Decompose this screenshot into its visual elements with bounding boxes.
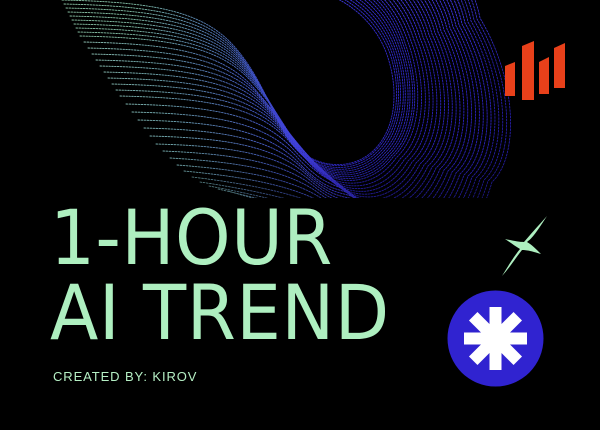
headline-line-2: AI TREND <box>50 275 441 350</box>
asterisk-glyph <box>464 307 527 370</box>
four-point-sparkle-icon <box>497 212 553 280</box>
credit-text: CREATED BY: KIROV <box>53 369 197 384</box>
slanted-bars-logo-icon[interactable] <box>503 36 567 102</box>
page-title: 1-HOUR AI TREND <box>50 200 470 350</box>
poster-canvas: 1-HOUR AI TREND CREATED BY: KIROV <box>0 0 600 430</box>
headline-line-1: 1-HOUR <box>50 200 441 275</box>
